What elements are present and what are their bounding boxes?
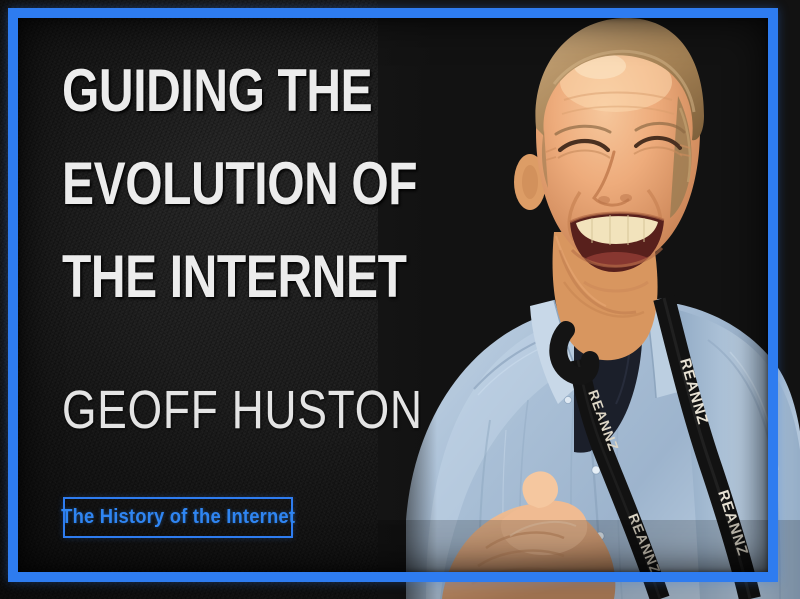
title-block: GUIDING THE EVOLUTION OF THE INTERNET xyxy=(62,62,422,306)
title-card: REANNZ REANNZ REANNZ REANNZ xyxy=(0,0,800,599)
title-line-1: GUIDING THE xyxy=(62,62,350,121)
series-tag-box: The History of the Internet xyxy=(63,497,293,538)
page-title: GUIDING THE EVOLUTION OF THE INTERNET xyxy=(62,62,350,306)
speaker-photo: REANNZ REANNZ REANNZ REANNZ xyxy=(378,0,800,599)
title-line-3: THE INTERNET xyxy=(62,248,350,307)
speaker-name: GEOFF HUSTON xyxy=(62,383,423,437)
series-tag-label: The History of the Internet xyxy=(61,506,295,529)
title-line-2: EVOLUTION OF xyxy=(62,155,350,214)
